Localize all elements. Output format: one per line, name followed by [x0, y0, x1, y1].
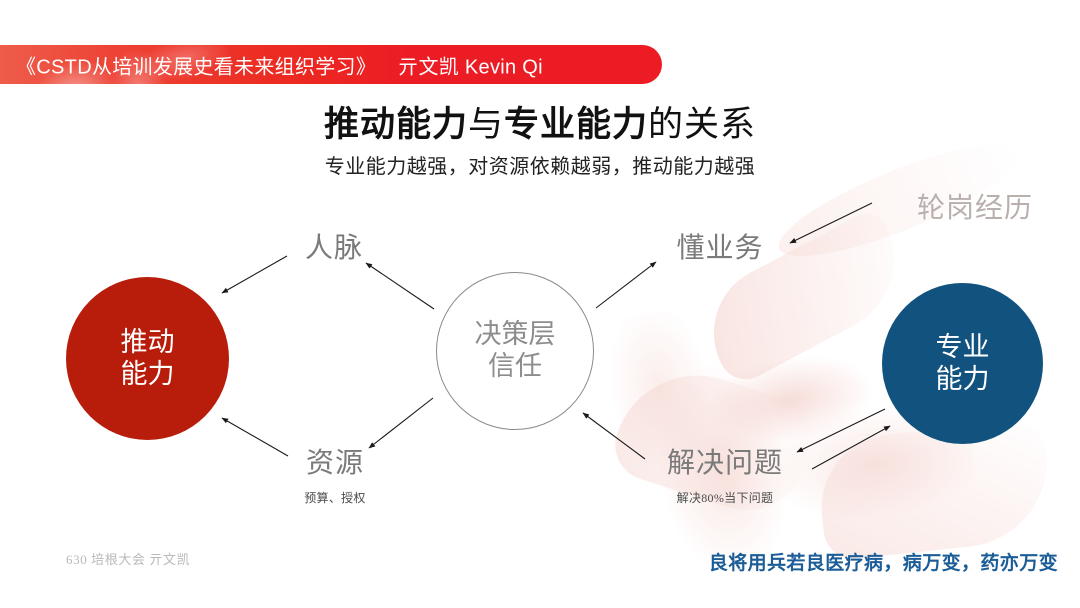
node-professional-capability[interactable]: 专业 能力 [882, 283, 1043, 444]
footer-quote: 良将用兵若良医疗病，病万变，药亦万变 [709, 548, 1058, 575]
header-banner-text: 《CSTD从培训发展史看未来组织学习》亓文凯 Kevin Qi [16, 50, 543, 79]
label-rotation-experience-main: 轮岗经历 [860, 186, 1080, 226]
node-professional-capability-line2: 能力 [936, 364, 990, 396]
node-push-capability[interactable]: 推动 能力 [66, 277, 229, 440]
footer-credit: 630 培根大会 亓文凯 [66, 549, 190, 568]
page-title-part-1: 推动能力 [324, 105, 468, 144]
label-resources-main: 资源 [235, 441, 435, 481]
label-rotation-experience: 轮岗经历 [860, 186, 1080, 226]
header-banner: 《CSTD从培训发展史看未来组织学习》亓文凯 Kevin Qi [0, 45, 662, 84]
node-decision-maker-trust-line2: 信任 [488, 351, 542, 383]
label-solve-problems-main: 解决问题 [570, 441, 880, 481]
label-connections: 人脉 [234, 226, 434, 266]
label-understand-business-main: 懂业务 [595, 226, 845, 266]
page-title-part-4: 的关系 [648, 105, 756, 144]
page-title-part-2: 与 [468, 105, 504, 144]
header-banner-title: 《CSTD从培训发展史看未来组织学习》 [16, 56, 376, 78]
page-subtitle: 专业能力越强，对资源依赖越弱，推动能力越强 [0, 150, 1080, 179]
connector-renmai-to-center [366, 263, 434, 309]
label-solve-problems-sub: 解决80%当下问题 [570, 489, 880, 506]
connector-center-to-dongyewu [596, 262, 656, 308]
label-resources-sub: 预算、授权 [235, 489, 435, 506]
node-push-capability-line1: 推动 [121, 327, 175, 359]
label-resources: 资源 预算、授权 [235, 441, 435, 506]
header-speaker-name: 亓文凯 Kevin Qi [398, 56, 543, 78]
page-title-part-3: 专业能力 [504, 105, 648, 144]
label-understand-business: 懂业务 [595, 226, 845, 266]
node-decision-maker-trust[interactable]: 决策层 信任 [436, 272, 594, 430]
page-title: 推动能力与专业能力的关系 [0, 96, 1080, 147]
label-connections-main: 人脉 [234, 226, 434, 266]
label-solve-problems: 解决问题 解决80%当下问题 [570, 441, 880, 506]
node-professional-capability-line1: 专业 [936, 332, 990, 364]
node-push-capability-line2: 能力 [121, 359, 175, 391]
slide-canvas: 《CSTD从培训发展史看未来组织学习》亓文凯 Kevin Qi 推动能力与专业能… [0, 0, 1080, 608]
node-decision-maker-trust-line1: 决策层 [475, 319, 556, 351]
